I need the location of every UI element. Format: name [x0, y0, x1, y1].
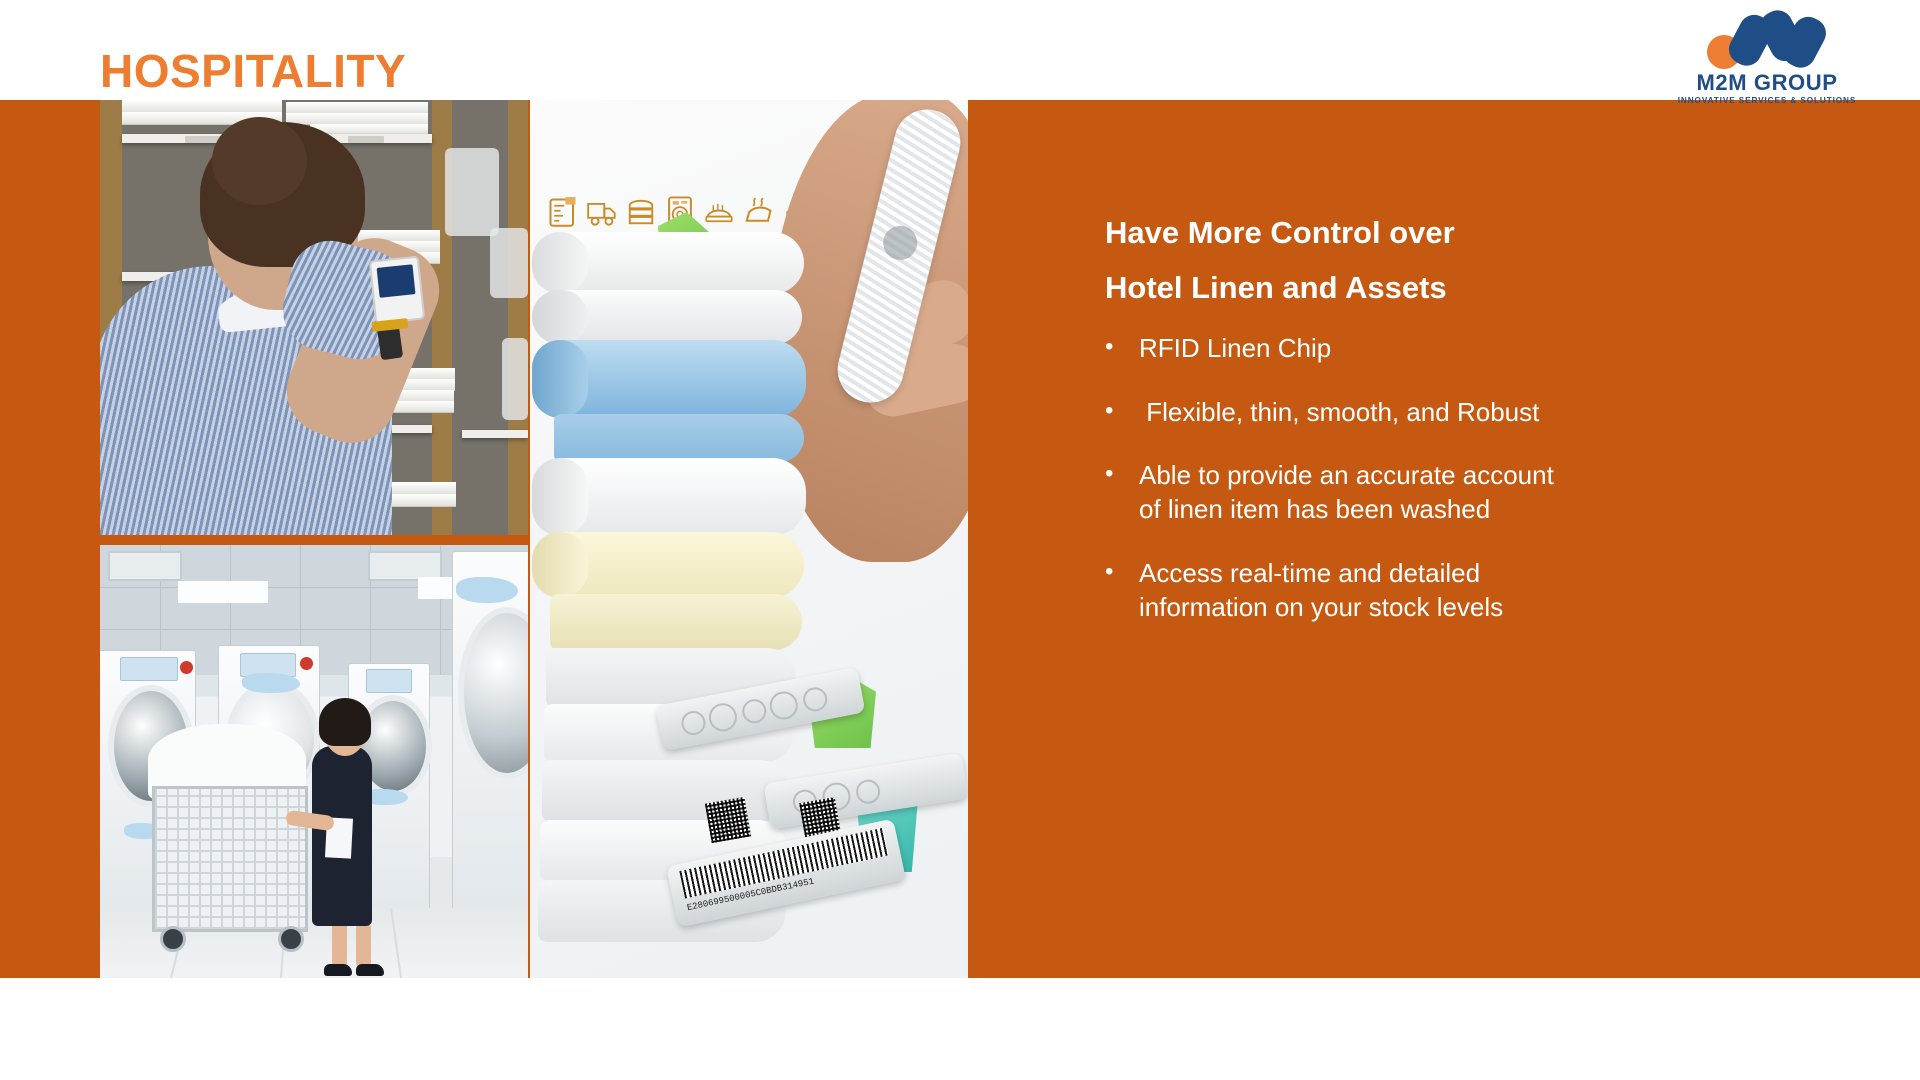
list-item: • Flexible, thin, smooth, and Robust: [1105, 395, 1805, 429]
m2m-group-logo: M2M GROUP INNOVATIVE SERVICES & SOLUTION…: [1662, 8, 1872, 116]
delivery-truck-icon: [587, 195, 617, 229]
qr-code: [705, 797, 751, 843]
photo-housekeeper-scanning-linen-shelf: [100, 100, 528, 535]
laundry-cart: [152, 786, 308, 932]
laundry-brush-icon: [704, 195, 734, 229]
bullet-marker-icon: •: [1105, 395, 1139, 427]
feature-bullet-list: • RFID Linen Chip • Flexible, thin, smoo…: [1105, 331, 1805, 624]
steam-iron-icon: [743, 195, 773, 229]
heading-line-2: Hotel Linen and Assets: [1105, 260, 1805, 315]
photo-rfid-linen-tags-on-towels: E280699500005C0BDB314951: [530, 100, 968, 978]
folded-linen-stack-icon: [626, 195, 656, 229]
logo-mark-icon: [1662, 8, 1872, 70]
list-item: • RFID Linen Chip: [1105, 331, 1805, 365]
page-title: HOSPITALITY: [100, 48, 406, 94]
bullet-marker-icon: •: [1105, 556, 1139, 588]
bullet-marker-icon: •: [1105, 458, 1139, 490]
bullet-marker-icon: •: [1105, 331, 1139, 363]
heading-line-1: Have More Control over: [1105, 205, 1805, 260]
bullet-text: Able to provide an accurate account of l…: [1139, 458, 1805, 527]
bullet-text: RFID Linen Chip: [1139, 331, 1805, 365]
bullet-text: Flexible, thin, smooth, and Robust: [1139, 395, 1805, 429]
slide-hospitality: HOSPITALITY M2M GROUP INNOVATIVE SERVICE…: [0, 0, 1920, 1080]
bullet-text: Access real-time and detailed informatio…: [1139, 556, 1805, 625]
logo-wordmark: M2M GROUP: [1662, 70, 1872, 96]
logo-tagline: INNOVATIVE SERVICES & SOLUTIONS: [1662, 96, 1872, 105]
list-item: • Able to provide an accurate account of…: [1105, 458, 1805, 527]
photo-commercial-laundry-room: [100, 545, 528, 978]
content-heading: Have More Control over Hotel Linen and A…: [1105, 205, 1805, 315]
content-block: Have More Control over Hotel Linen and A…: [1105, 205, 1805, 653]
list-item: • Access real-time and detailed informat…: [1105, 556, 1805, 625]
tag-document-icon: [548, 195, 578, 229]
rfid-handheld-scanner-icon: [369, 256, 425, 325]
